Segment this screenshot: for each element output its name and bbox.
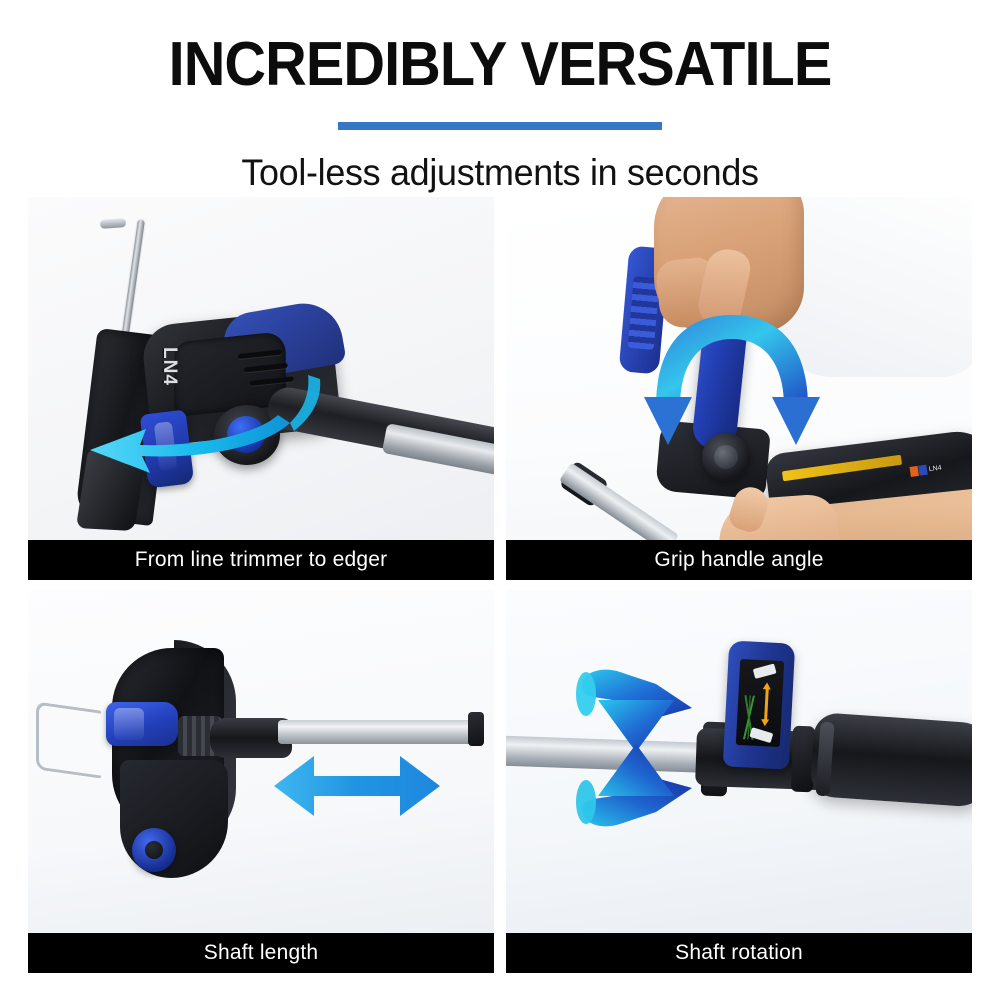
panel-4-photo [506, 590, 972, 933]
panel-1-photo: LN4 [28, 197, 494, 540]
blue-release-lever [140, 409, 195, 488]
sticker-arrow-icon [764, 688, 769, 720]
panel-from-line-trimmer-to-edger: LN4 From line trimmer to edger [28, 197, 494, 580]
product-brand-label: LN4 [158, 347, 180, 386]
panel-shaft-length: Shaft length [28, 590, 494, 973]
handle-pivot-hub [702, 433, 750, 481]
header: INCREDIBLY VERSATILE Tool-less adjustmen… [0, 0, 1000, 194]
panel-4-caption: Shaft rotation [506, 933, 972, 973]
edger-guard-edge [76, 451, 146, 531]
panel-2-caption: Grip handle angle [506, 540, 972, 580]
page-title: INCREDIBLY VERSATILE [35, 0, 965, 96]
panel-3-caption: Shaft length [28, 933, 494, 973]
trimmer-pictogram-icon [753, 664, 777, 679]
feature-panel-grid: LN4 From line trimmer to edger [28, 197, 972, 973]
panel-3-photo [28, 590, 494, 933]
page-subtitle: Tool-less adjustments in seconds [15, 152, 985, 194]
hex-key-hook [100, 218, 127, 229]
title-divider [338, 122, 662, 130]
edger-pictogram-icon [749, 727, 773, 743]
panel-2-photo: LN4 20V [506, 197, 972, 540]
blue-cover-panel [106, 702, 178, 746]
rotation-instruction-sticker [736, 659, 784, 747]
edge-guide-wheel [132, 828, 176, 872]
telescoping-shaft [278, 720, 478, 744]
panel-shaft-rotation: Shaft rotation [506, 590, 972, 973]
edge-guide-wire [36, 701, 101, 778]
vent-slot [244, 363, 288, 373]
svg-text:LN4: LN4 [928, 465, 942, 474]
shaft-end-cap [468, 712, 484, 746]
panel-grip-handle-angle: LN4 20V [506, 197, 972, 580]
vent-slot [238, 349, 282, 359]
panel-1-caption: From line trimmer to edger [28, 540, 494, 580]
